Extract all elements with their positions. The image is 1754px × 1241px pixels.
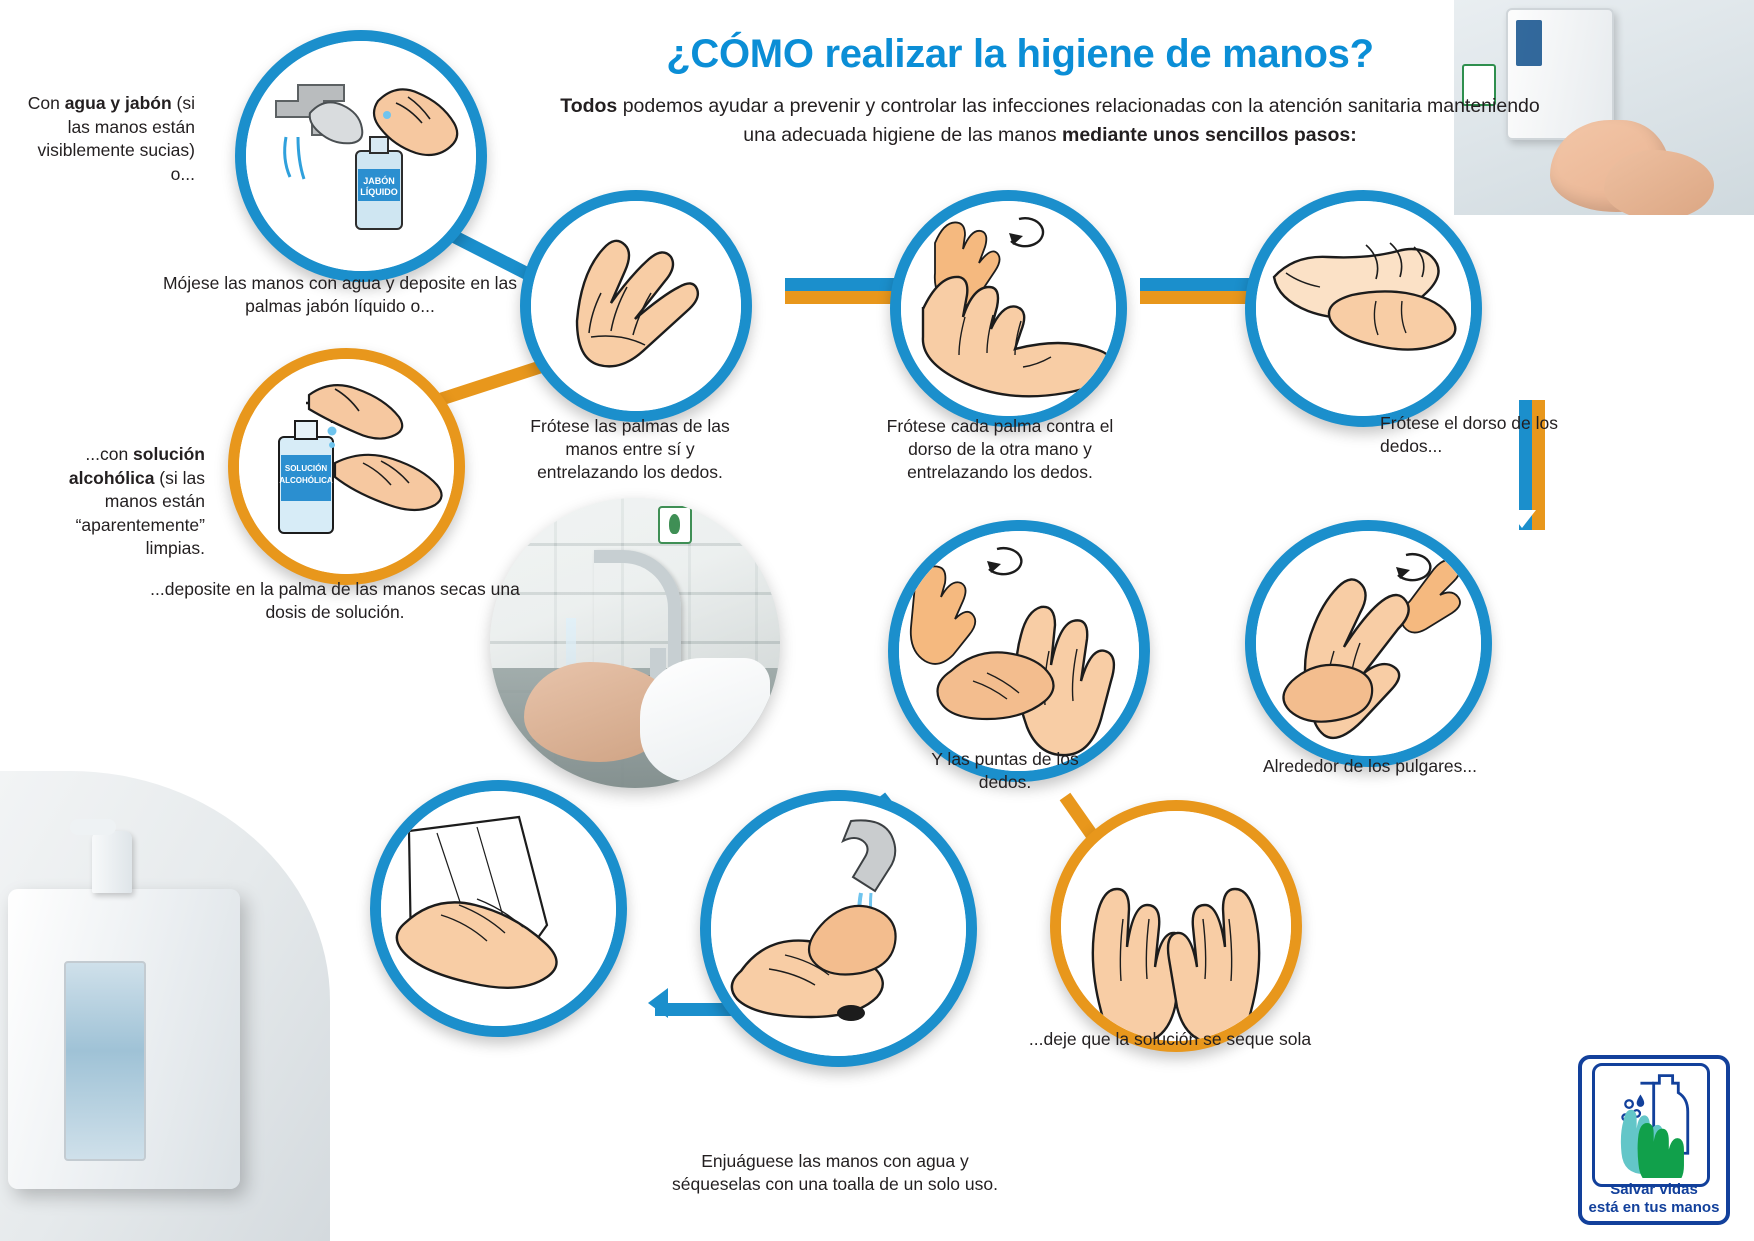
step-circle-alcohol[interactable]: SOLUCIÓN ALCOHÓLICA	[228, 348, 465, 585]
step-caption-finger-backs: Frótese el dorso de los dedos...	[1380, 412, 1580, 458]
side-note-1-prefix: Con	[28, 93, 65, 113]
towel-step-illustration	[381, 791, 616, 1026]
soap-dispenser-nozzle	[70, 819, 116, 835]
intro-bold-leading: Todos	[560, 95, 617, 117]
intro-bold-trailing: mediante unos sencillos pasos:	[1062, 124, 1357, 146]
step-circle-rinse[interactable]	[700, 790, 977, 1067]
svg-text:JABÓN: JABÓN	[363, 175, 395, 186]
dispenser-label	[1516, 20, 1542, 66]
side-note-alcohol: ...con solución alcohólica (si las manos…	[30, 443, 205, 561]
logo-inner-frame	[1592, 1063, 1710, 1187]
step-caption-palms: Frótese las palmas de las manos entre sí…	[525, 415, 735, 484]
logo-tagline: Salvar vidas está en tus manos	[1578, 1181, 1730, 1217]
svg-text:ALCOHÓLICA: ALCOHÓLICA	[279, 476, 333, 485]
step-circle-thumbs[interactable]	[1245, 520, 1492, 767]
logo-tagline-line2: está en tus manos	[1578, 1199, 1730, 1217]
arrow-alcohol-to-palms-icon	[464, 346, 490, 378]
svg-text:LÍQUIDO: LÍQUIDO	[360, 187, 398, 197]
soap-dispenser-body	[8, 889, 240, 1189]
svg-text:SOLUCIÓN: SOLUCIÓN	[285, 464, 327, 473]
step-caption-thumbs: Alrededor de los pulgares...	[1245, 755, 1495, 778]
backs-step-illustration	[901, 201, 1116, 416]
wall-sticker-icon	[658, 506, 692, 544]
step-circle-air-dry[interactable]	[1050, 800, 1302, 1052]
side-note-water-soap: Con agua y jabón (si las manos están vis…	[10, 92, 195, 186]
step-circle-finger-backs[interactable]	[1245, 190, 1482, 427]
rinse-step-illustration	[711, 801, 966, 1056]
step-caption-air-dry: ...deje que la solución se seque sola	[1025, 1028, 1315, 1051]
step-caption-soap: Mójese las manos con agua y deposite en …	[160, 272, 520, 318]
arrow-fingertips-to-rinse-icon	[992, 828, 1025, 859]
side-note-1-bold: agua y jabón	[65, 93, 172, 113]
side-note-2-prefix: ...con	[85, 444, 133, 464]
campaign-logo: Salvar vidas está en tus manos	[1578, 1055, 1730, 1225]
step-circle-soap[interactable]: JABÓN LÍQUIDO	[235, 30, 487, 282]
fingertips-step-illustration	[899, 531, 1139, 771]
hands-and-dispenser-icon	[1595, 1066, 1701, 1178]
thumbs-step-illustration	[1256, 531, 1481, 756]
poster-canvas: ¿CÓMO realizar la higiene de manos? Todo…	[0, 0, 1754, 1241]
air-dry-step-illustration	[1061, 811, 1291, 1041]
photo-lab-coat-sleeve	[640, 658, 770, 782]
photo-hand-2	[1604, 150, 1714, 215]
step-caption-backs: Frótese cada palma contra el dorso de la…	[880, 415, 1120, 484]
soap-dispenser-window	[64, 961, 146, 1161]
step-caption-alcohol: ...deposite en la palma de las manos sec…	[150, 578, 520, 624]
logo-tagline-line1: Salvar vidas	[1578, 1181, 1730, 1199]
step-circle-palms[interactable]	[520, 190, 752, 422]
soap-dispenser-pump	[92, 831, 132, 893]
finger-backs-step-illustration	[1256, 201, 1471, 416]
step-circle-backs[interactable]	[890, 190, 1127, 427]
photo-handwashing-sink	[490, 498, 780, 788]
palms-step-illustration	[531, 201, 741, 411]
step-caption-rinse: Enjuáguese las manos con agua y séquesel…	[660, 1150, 1010, 1196]
step-caption-fingertips: Y las puntas de los dedos.	[905, 748, 1105, 794]
arrow-fingerbacks-to-thumbs-icon	[1508, 510, 1536, 528]
intro-paragraph: Todos podemos ayudar a prevenir y contro…	[560, 92, 1540, 150]
page-title: ¿CÓMO realizar la higiene de manos?	[560, 32, 1480, 77]
arrow-rinse-to-towel-icon	[648, 988, 668, 1018]
photo-soap-dispenser	[0, 771, 330, 1241]
step-circle-towel[interactable]	[370, 780, 627, 1037]
soap-step-illustration: JABÓN LÍQUIDO	[246, 41, 476, 271]
alcohol-step-illustration: SOLUCIÓN ALCOHÓLICA	[239, 359, 454, 574]
step-circle-fingertips[interactable]	[888, 520, 1150, 782]
